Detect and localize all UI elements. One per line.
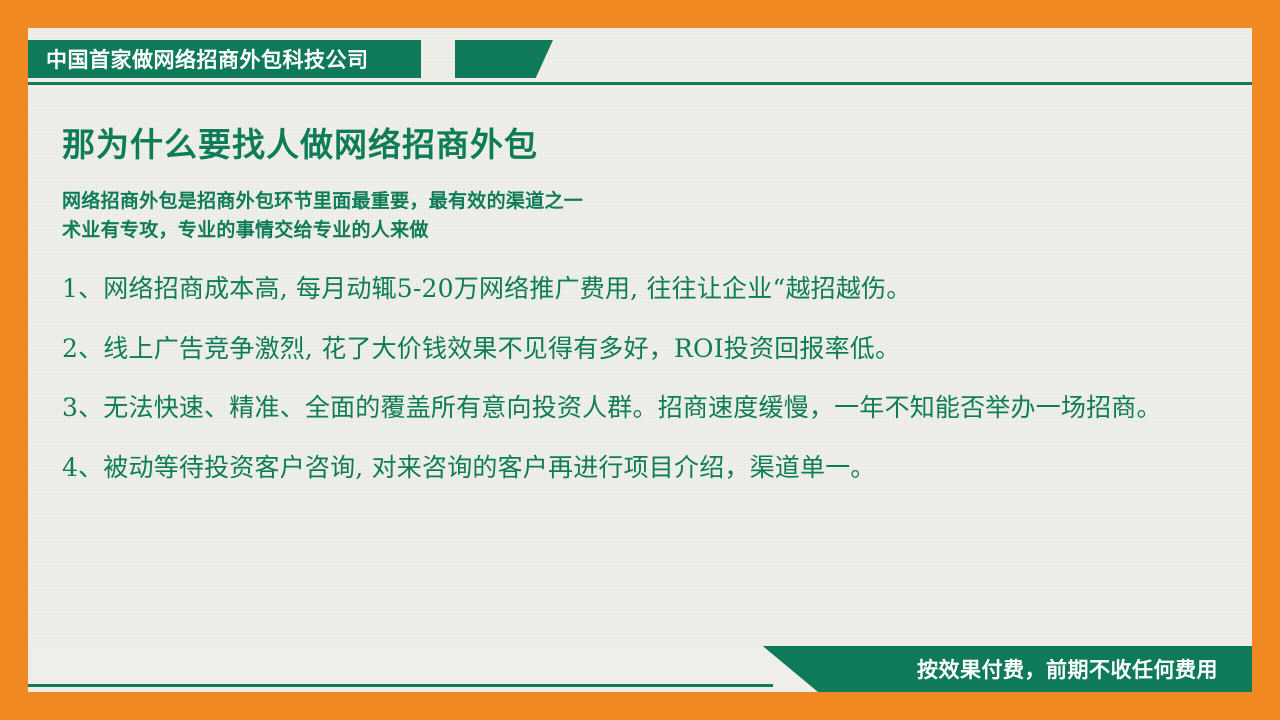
slide: 中国首家做网络招商外包科技公司 那为什么要找人做网络招商外包 网络招商外包是招商… <box>0 0 1280 720</box>
list-item: 1、网络招商成本高, 每月动辄5-20万网络推广费用, 往往让企业“越招越伤。 <box>62 271 1202 307</box>
footer-label: 按效果付费，前期不收任何费用 <box>917 646 1218 692</box>
header-banner-label: 中国首家做网络招商外包科技公司 <box>46 44 369 74</box>
list-item: 2、线上广告竞争激烈, 花了大价钱效果不见得有多好，ROI投资回报率低。 <box>62 331 1202 367</box>
footer-notch-rule <box>28 684 773 687</box>
list-item: 4、被动等待投资客户咨询, 对来咨询的客户再进行项目介绍，渠道单一。 <box>62 450 1202 486</box>
subtitle-line-1: 网络招商外包是招商外包环节里面最重要，最有效的渠道之一 <box>62 187 1202 216</box>
header-rule <box>28 82 1252 85</box>
header-banner: 中国首家做网络招商外包科技公司 <box>28 40 421 78</box>
page-title: 那为什么要找人做网络招商外包 <box>62 125 1202 165</box>
slide-content: 那为什么要找人做网络招商外包 网络招商外包是招商外包环节里面最重要，最有效的渠道… <box>62 125 1202 509</box>
subtitle-block: 网络招商外包是招商外包环节里面最重要，最有效的渠道之一 术业有专攻，专业的事情交… <box>62 187 1202 246</box>
list-item: 3、无法快速、精准、全面的覆盖所有意向投资人群。招商速度缓慢，一年不知能否举办一… <box>62 390 1202 426</box>
bullet-list: 1、网络招商成本高, 每月动辄5-20万网络推广费用, 往往让企业“越招越伤。 … <box>62 271 1202 485</box>
subtitle-line-2: 术业有专攻，专业的事情交给专业的人来做 <box>62 216 1202 245</box>
